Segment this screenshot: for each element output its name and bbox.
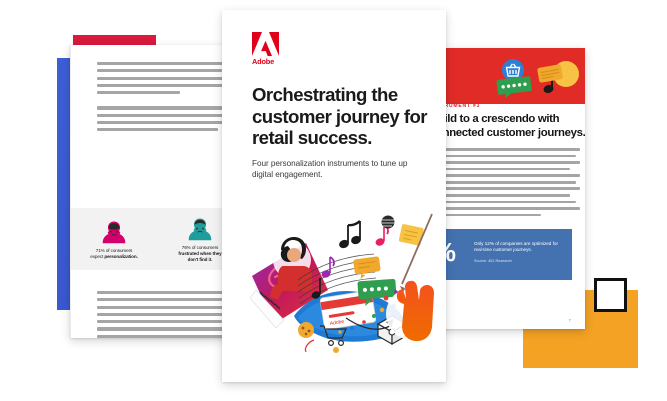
right-page-heading: Build to a crescendo with connected cust… xyxy=(430,112,585,140)
adobe-wordmark: Adobe xyxy=(252,57,283,66)
person-pink-icon xyxy=(99,219,129,245)
banner-icon-cluster xyxy=(480,54,585,102)
adobe-logo: Adobe xyxy=(252,32,283,66)
stat-callout-source: Source: 451 Research xyxy=(474,259,512,263)
stat-line-2-plain: expect xyxy=(90,254,104,259)
page-title: Orchestrating the customer journey for r… xyxy=(252,84,430,149)
decor-square-outline xyxy=(594,278,627,312)
person-teal-icon xyxy=(185,216,215,242)
adobe-a-icon xyxy=(252,32,279,56)
stat-caption: 76% of consumers frustrated when they do… xyxy=(178,245,221,263)
left-stats-band: 71% of consumers expect personalization.… xyxy=(71,208,243,270)
report-cover-page[interactable]: Adobe Orchestrating the customer journey… xyxy=(222,10,446,382)
stat-callout-text: Only 12% of companies are optimized for … xyxy=(474,241,566,253)
stat-line-1: 71% of consumers xyxy=(96,248,132,253)
stat-line-3-bold: don't find it. xyxy=(188,257,213,262)
page-subtitle: Four personalization instruments to tune… xyxy=(252,158,417,180)
stat-line-2-bold: frustrated when they xyxy=(178,251,221,256)
five-star-review-icon xyxy=(496,76,532,98)
right-page-body: Like woodwinds, those lush, melodious sy… xyxy=(430,148,580,220)
left-page-top-text: "We no longer live in a world that can b… xyxy=(71,45,243,131)
piano-conductor-illustration: Adobe xyxy=(236,198,436,358)
report-page-left[interactable]: "We no longer live in a world that can b… xyxy=(70,45,243,338)
page-number: 7 xyxy=(569,318,571,323)
composition-stage: "We no longer live in a world that can b… xyxy=(0,0,667,401)
stat-line-1: 76% of consumers xyxy=(182,245,218,250)
stat-line-2-bold: personalization. xyxy=(104,254,137,259)
stat-expect-personalization: 71% of consumers expect personalization. xyxy=(71,208,157,270)
stat-caption: 71% of consumers expect personalization. xyxy=(90,248,138,260)
left-case-study-text: Victoria's Secret, the leading specialty… xyxy=(71,281,243,338)
